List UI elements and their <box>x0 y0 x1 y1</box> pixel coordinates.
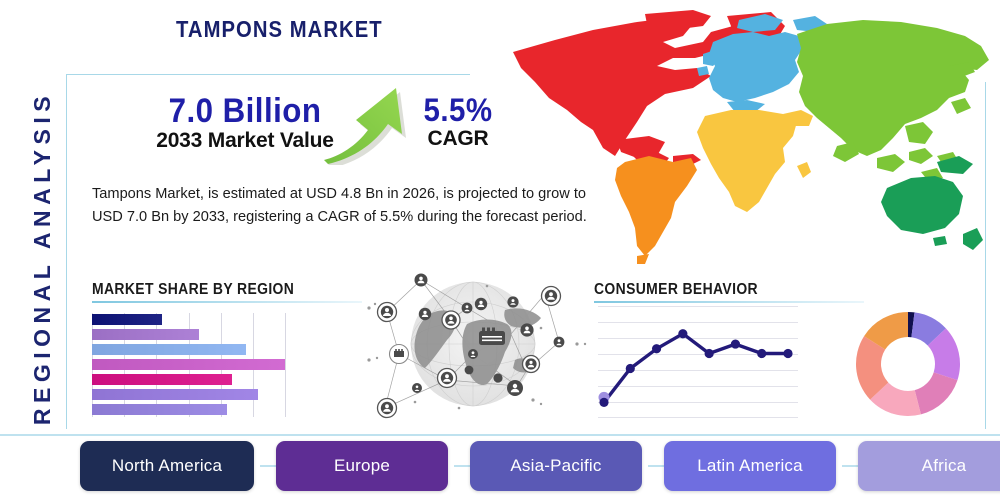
line-point <box>652 344 661 353</box>
bar-item <box>92 314 162 325</box>
consumer-behavior-donut-chart <box>853 309 963 419</box>
donut-segment <box>915 372 958 414</box>
market-share-rule <box>92 301 362 303</box>
section-title-consumer-behavior: CONSUMER BEHAVIOR <box>594 281 758 299</box>
market-share-bar-chart <box>92 313 287 417</box>
region-connector-rule <box>0 434 1000 436</box>
region-button-label: Europe <box>334 456 390 476</box>
world-map-icon <box>497 6 997 268</box>
map-region-africa <box>697 110 813 212</box>
region-button-africa[interactable]: Africa <box>858 441 1000 491</box>
region-button-label: North America <box>112 456 222 476</box>
region-button-label: Latin America <box>697 456 803 476</box>
map-region-south-america <box>615 156 697 264</box>
bar-item <box>92 404 227 415</box>
region-button-north-america[interactable]: North America <box>80 441 254 491</box>
region-button-asia-pacific[interactable]: Asia-Pacific <box>470 441 642 491</box>
bar-item <box>92 389 258 400</box>
line-point <box>731 339 740 348</box>
bar-item <box>92 374 232 385</box>
line-point <box>626 364 635 373</box>
region-button-label: Asia-Pacific <box>510 456 601 476</box>
line-point <box>678 329 687 338</box>
region-button-europe[interactable]: Europe <box>276 441 448 491</box>
global-network-globe-icon <box>355 268 595 430</box>
line-point <box>757 349 766 358</box>
consumer-behavior-rule <box>594 301 864 303</box>
bar-item <box>92 344 246 355</box>
bar-item <box>92 359 285 370</box>
region-button-latin-america[interactable]: Latin America <box>664 441 836 491</box>
consumer-behavior-line-chart <box>598 306 798 418</box>
line-point <box>705 349 714 358</box>
infographic-root: REGIONAL ANALYSIS TAMPONS MARKET 7.0 Bil… <box>0 0 1000 500</box>
page-title: TAMPONS MARKET <box>176 16 383 43</box>
bar-item <box>92 329 199 340</box>
line-point <box>783 349 792 358</box>
section-title-market-share: MARKET SHARE BY REGION <box>92 281 294 299</box>
vertical-section-label: REGIONAL ANALYSIS <box>22 48 62 468</box>
region-button-label: Africa <box>922 456 967 476</box>
line-point <box>599 398 608 407</box>
region-button-group: North AmericaEuropeAsia-PacificLatin Ame… <box>80 441 985 491</box>
